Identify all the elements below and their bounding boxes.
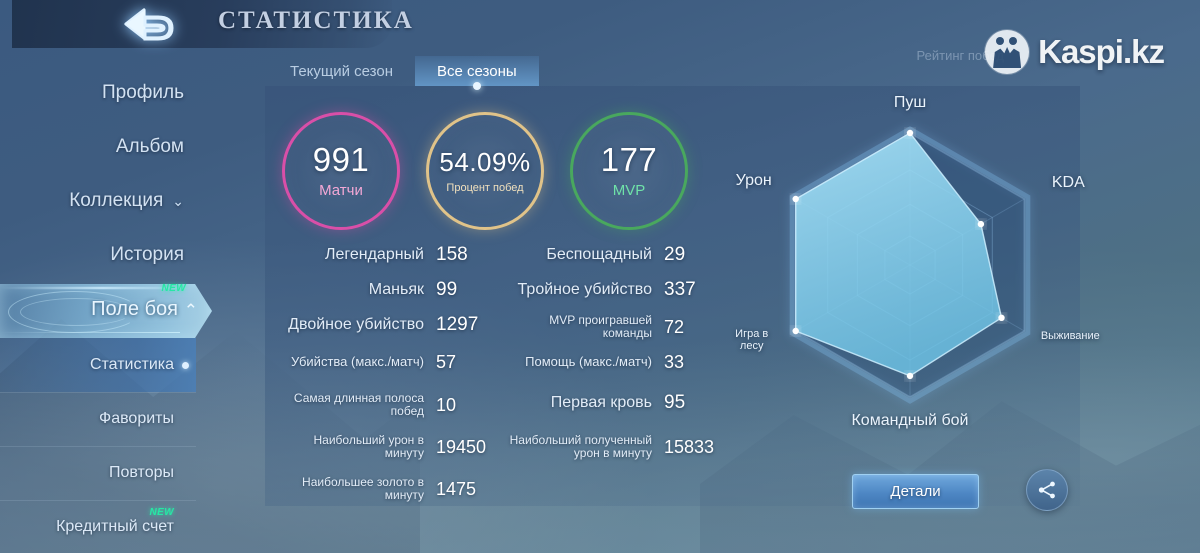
sidebar-item-label: Поле боя xyxy=(91,298,178,321)
summary-label: Процент побед xyxy=(446,182,523,194)
stat-label: Маньяк xyxy=(272,281,424,299)
kaspi-logo-icon xyxy=(985,30,1029,74)
stat-value: 337 xyxy=(664,279,696,301)
stat-row: Беспощадный29 xyxy=(500,244,685,266)
sidebar-item-label: Фавориты xyxy=(99,410,174,428)
stat-row: Самая длинная полоса побед10 xyxy=(272,392,456,419)
share-button[interactable] xyxy=(1026,469,1068,511)
summary-value: 54.09% xyxy=(439,149,530,175)
stat-label: MVP проигравшей команды xyxy=(500,314,652,341)
share-icon xyxy=(1036,479,1058,501)
kaspi-watermark: Kaspi.kz xyxy=(985,30,1164,74)
tab-label: Все сезоны xyxy=(437,63,517,80)
summary-label: Матчи xyxy=(319,182,363,199)
battlefield-glow-top xyxy=(0,287,186,289)
stat-label: Убийства (макс./матч) xyxy=(272,355,424,370)
sidebar-item-battlefield[interactable]: NEW Поле боя ⌃ xyxy=(0,284,212,338)
kaspi-watermark-text: Kaspi.kz xyxy=(1038,33,1164,71)
stat-value: 95 xyxy=(664,392,685,414)
stat-row: Помощь (макс./матч)33 xyxy=(500,352,684,373)
stat-label: Помощь (макс./матч) xyxy=(500,355,652,370)
sidebar-item-favorites[interactable]: Фавориты xyxy=(0,392,196,446)
tab-current-season[interactable]: Текущий сезон xyxy=(268,56,415,86)
stat-value: 158 xyxy=(436,244,468,266)
sidebar: Профиль Альбом Коллекция ⌄ История NEW П… xyxy=(0,48,200,553)
radar-axis-label: Пуш xyxy=(850,94,970,112)
sidebar-item-statistics[interactable]: Статистика xyxy=(0,338,196,392)
summary-circle-winrate[interactable]: 54.09% Процент побед xyxy=(426,112,544,230)
sidebar-item-label: Кредитный счет xyxy=(56,518,174,536)
sidebar-item-credit-account[interactable]: NEW Кредитный счет xyxy=(0,500,196,553)
sidebar-item-album[interactable]: Альбом xyxy=(0,120,200,174)
sidebar-item-collection[interactable]: Коллекция ⌄ xyxy=(0,174,200,228)
stat-row: Наибольший урон в минуту19450 xyxy=(272,434,486,461)
summary-label: MVP xyxy=(613,182,646,199)
new-badge: NEW xyxy=(149,507,174,518)
back-button[interactable] xyxy=(96,2,182,46)
radar-axis-label: Командный бой xyxy=(820,412,1000,430)
details-button-label: Детали xyxy=(890,483,940,500)
sidebar-item-profile[interactable]: Профиль xyxy=(0,66,200,120)
selected-dot-icon xyxy=(182,362,189,369)
tab-all-seasons[interactable]: Все сезоны xyxy=(415,56,539,86)
radar-chart: ПушKDAВыживаниеКомандный бойИгра в лесуУ… xyxy=(745,105,1075,435)
stat-value: 99 xyxy=(436,279,457,301)
stat-value: 1475 xyxy=(436,479,476,500)
sidebar-item-label: История xyxy=(110,244,184,266)
radar-axis-label: Игра в лесу xyxy=(724,328,780,352)
stat-row: Убийства (макс./матч)57 xyxy=(272,352,456,373)
stat-label: Тройное убийство xyxy=(500,281,652,299)
stat-label: Наибольший урон в минуту xyxy=(272,434,424,461)
sidebar-item-label: Коллекция xyxy=(69,190,163,212)
summary-value: 991 xyxy=(313,143,370,176)
stat-row: Маньяк99 xyxy=(272,279,457,301)
sidebar-item-label: Статистика xyxy=(90,356,174,374)
stat-label: Наибольшее золото в минуту xyxy=(272,476,424,503)
stat-label: Первая кровь xyxy=(500,394,652,412)
season-tabs: Текущий сезон Все сезоны xyxy=(268,56,539,86)
stat-value: 10 xyxy=(436,395,456,416)
chevron-up-icon: ⌃ xyxy=(184,301,198,321)
stat-value: 29 xyxy=(664,244,685,266)
summary-circle-matches[interactable]: 991 Матчи xyxy=(282,112,400,230)
stat-row: Наибольшее золото в минуту1475 xyxy=(272,476,476,503)
summary-circle-mvp[interactable]: 177 MVP xyxy=(570,112,688,230)
radar-chart-svg xyxy=(745,105,1075,435)
stat-value: 19450 xyxy=(436,437,486,458)
stat-row: MVP проигравшей команды72 xyxy=(500,314,684,341)
stat-value: 1297 xyxy=(436,314,478,336)
page-title: СТАТИСТИКА xyxy=(218,7,414,35)
stat-row: Первая кровь95 xyxy=(500,392,685,414)
statistics-screen: СТАТИСТИКА Рейтинг побед Kaspi.kz Профил… xyxy=(0,0,1200,553)
stat-row: Тройное убийство337 xyxy=(500,279,696,301)
stat-value: 72 xyxy=(664,317,684,338)
stat-row: Наибольший полученный урон в минуту15833 xyxy=(500,434,714,461)
stat-label: Наибольший полученный урон в минуту xyxy=(500,434,652,461)
details-button[interactable]: Детали xyxy=(852,474,979,509)
stat-value: 57 xyxy=(436,352,456,373)
new-badge: NEW xyxy=(161,283,186,294)
stat-label: Легендарный xyxy=(272,246,424,264)
sidebar-item-label: Альбом xyxy=(116,136,184,158)
radar-axis-label: Выживание xyxy=(1030,330,1110,342)
stat-label: Беспощадный xyxy=(500,246,652,264)
sidebar-item-label: Профиль xyxy=(102,82,184,104)
sidebar-item-history[interactable]: История xyxy=(0,228,200,282)
back-arrow-icon xyxy=(96,2,182,46)
stat-row: Легендарный158 xyxy=(272,244,468,266)
tab-label: Текущий сезон xyxy=(290,63,393,80)
stat-row: Двойное убийство1297 xyxy=(272,314,478,336)
sidebar-item-label: Повторы xyxy=(109,464,174,482)
summary-circles: 991 Матчи 54.09% Процент побед 177 MVP xyxy=(282,112,688,230)
chevron-down-icon: ⌄ xyxy=(172,194,184,208)
radar-axis-label: Урон xyxy=(718,172,790,190)
radar-axis-label: KDA xyxy=(1033,174,1103,192)
sidebar-item-replays[interactable]: Повторы xyxy=(0,446,196,500)
stat-label: Двойное убийство xyxy=(272,316,424,334)
stat-value: 15833 xyxy=(664,437,714,458)
summary-value: 177 xyxy=(601,143,658,176)
stat-value: 33 xyxy=(664,352,684,373)
stat-label: Самая длинная полоса побед xyxy=(272,392,424,419)
